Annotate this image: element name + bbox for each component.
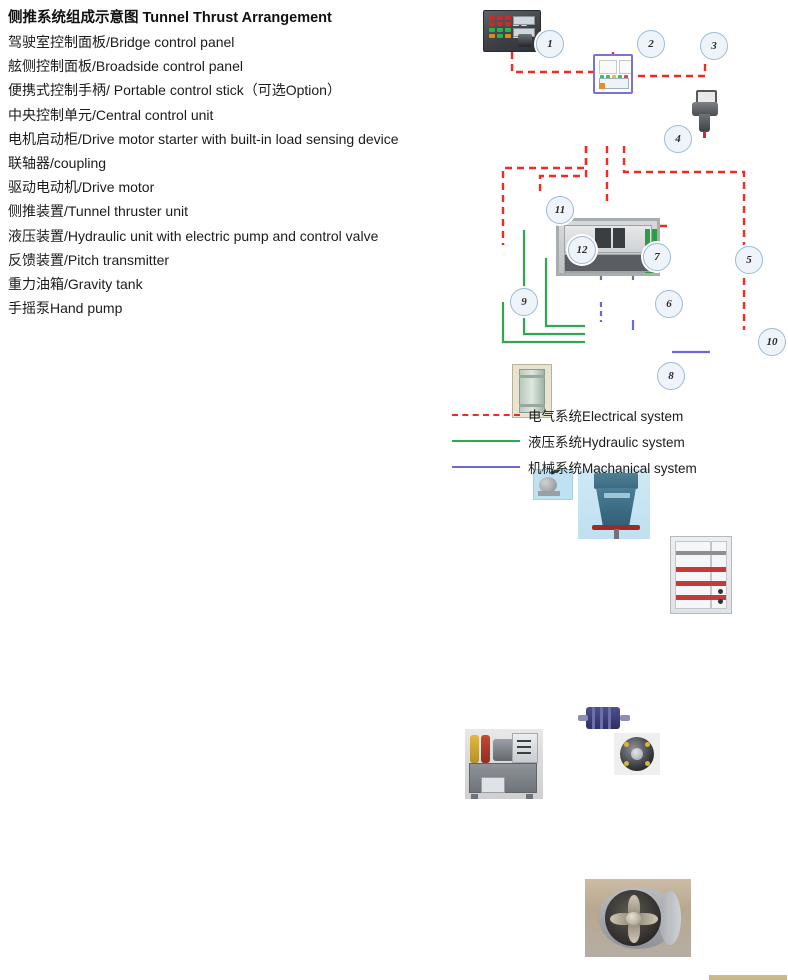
ccu-plc-module-2 <box>613 228 625 248</box>
ccu-relay-block <box>645 272 655 276</box>
coupling-bolt-3 <box>624 761 629 766</box>
node-drive-motor-starter[interactable] <box>670 536 732 614</box>
coupling-bolt-2 <box>645 742 650 747</box>
motor-shaft <box>614 529 619 539</box>
gearbox-fin-2 <box>600 707 603 729</box>
gearbox-shaft-right <box>620 715 630 721</box>
badge-11: 11 <box>546 196 574 224</box>
node-tunnel-thruster-unit[interactable] <box>585 879 691 957</box>
thruster-ring <box>659 891 681 945</box>
legend-row-hydraulic: 液压系统Hydraulic system <box>452 428 782 454</box>
node-broadside-control-panel[interactable] <box>593 54 633 94</box>
ccu-plc-module <box>595 228 611 248</box>
starter-knob <box>718 589 723 594</box>
badge-7: 7 <box>643 243 671 271</box>
panel-window-right <box>619 60 633 74</box>
badge-1: 1 <box>536 30 564 58</box>
starter-breaker-row-1 <box>676 567 726 572</box>
hydraulic-foot-right <box>526 794 533 799</box>
hydraulic-filter-red <box>481 735 490 763</box>
legend-row-electrical: 电气系统Electrical system <box>452 402 782 428</box>
coupling-bolt-1 <box>624 742 629 747</box>
coupling-bolt-4 <box>645 761 650 766</box>
badge-6: 6 <box>655 290 683 318</box>
badge-12: 12 <box>568 236 596 264</box>
motor-vent <box>604 493 630 498</box>
node-bridge-control-panel[interactable] <box>483 10 541 52</box>
node-coupling[interactable] <box>614 733 660 775</box>
hydraulic-filter-yellow <box>470 735 479 763</box>
thruster-hub <box>626 912 641 925</box>
starter-breaker-row-2 <box>676 581 726 586</box>
gearbox-shaft-left <box>578 715 588 721</box>
badge-9: 9 <box>510 288 538 316</box>
pump-base <box>538 491 560 496</box>
node-portable-control-stick[interactable] <box>688 90 722 138</box>
legend-label-mechanical: 机械系统Machanical system <box>528 457 697 477</box>
hydraulic-control-box <box>512 733 538 763</box>
legend-row-mechanical: 机械系统Machanical system <box>452 454 782 480</box>
gearbox-fin-1 <box>592 707 595 729</box>
coupling-hub <box>631 748 643 760</box>
panel-window-left <box>599 60 617 74</box>
badge-8: 8 <box>657 362 685 390</box>
stick-cable <box>703 131 706 138</box>
badge-4: 4 <box>664 125 692 153</box>
badge-10: 10 <box>758 328 786 356</box>
panel-orange-button <box>599 83 605 89</box>
legend-label-electrical: 电气系统Electrical system <box>528 405 683 425</box>
tank-strap-top <box>519 375 545 378</box>
legend-label-hydraulic: 液压系统Hydraulic system <box>528 431 685 451</box>
badge-3: 3 <box>700 32 728 60</box>
starter-terminal-row <box>676 551 726 555</box>
node-gearbox[interactable] <box>578 701 630 735</box>
system-legend: 电气系统Electrical system 液压系统Hydraulic syst… <box>452 402 782 480</box>
hydraulic-foot-left <box>471 794 478 799</box>
stick-grip <box>699 114 710 132</box>
panel-joystick <box>518 34 532 47</box>
ccu-lower-shelf <box>564 272 652 276</box>
badge-2: 2 <box>637 30 665 58</box>
node-hydraulic-unit[interactable] <box>465 729 543 799</box>
node-pitch-transmitter[interactable] <box>709 975 787 980</box>
hydraulic-nameplate <box>481 777 505 793</box>
ccu-breaker-row <box>567 274 635 276</box>
badge-5: 5 <box>735 246 763 274</box>
starter-lamp <box>718 599 723 604</box>
gearbox-fin-3 <box>608 707 611 729</box>
